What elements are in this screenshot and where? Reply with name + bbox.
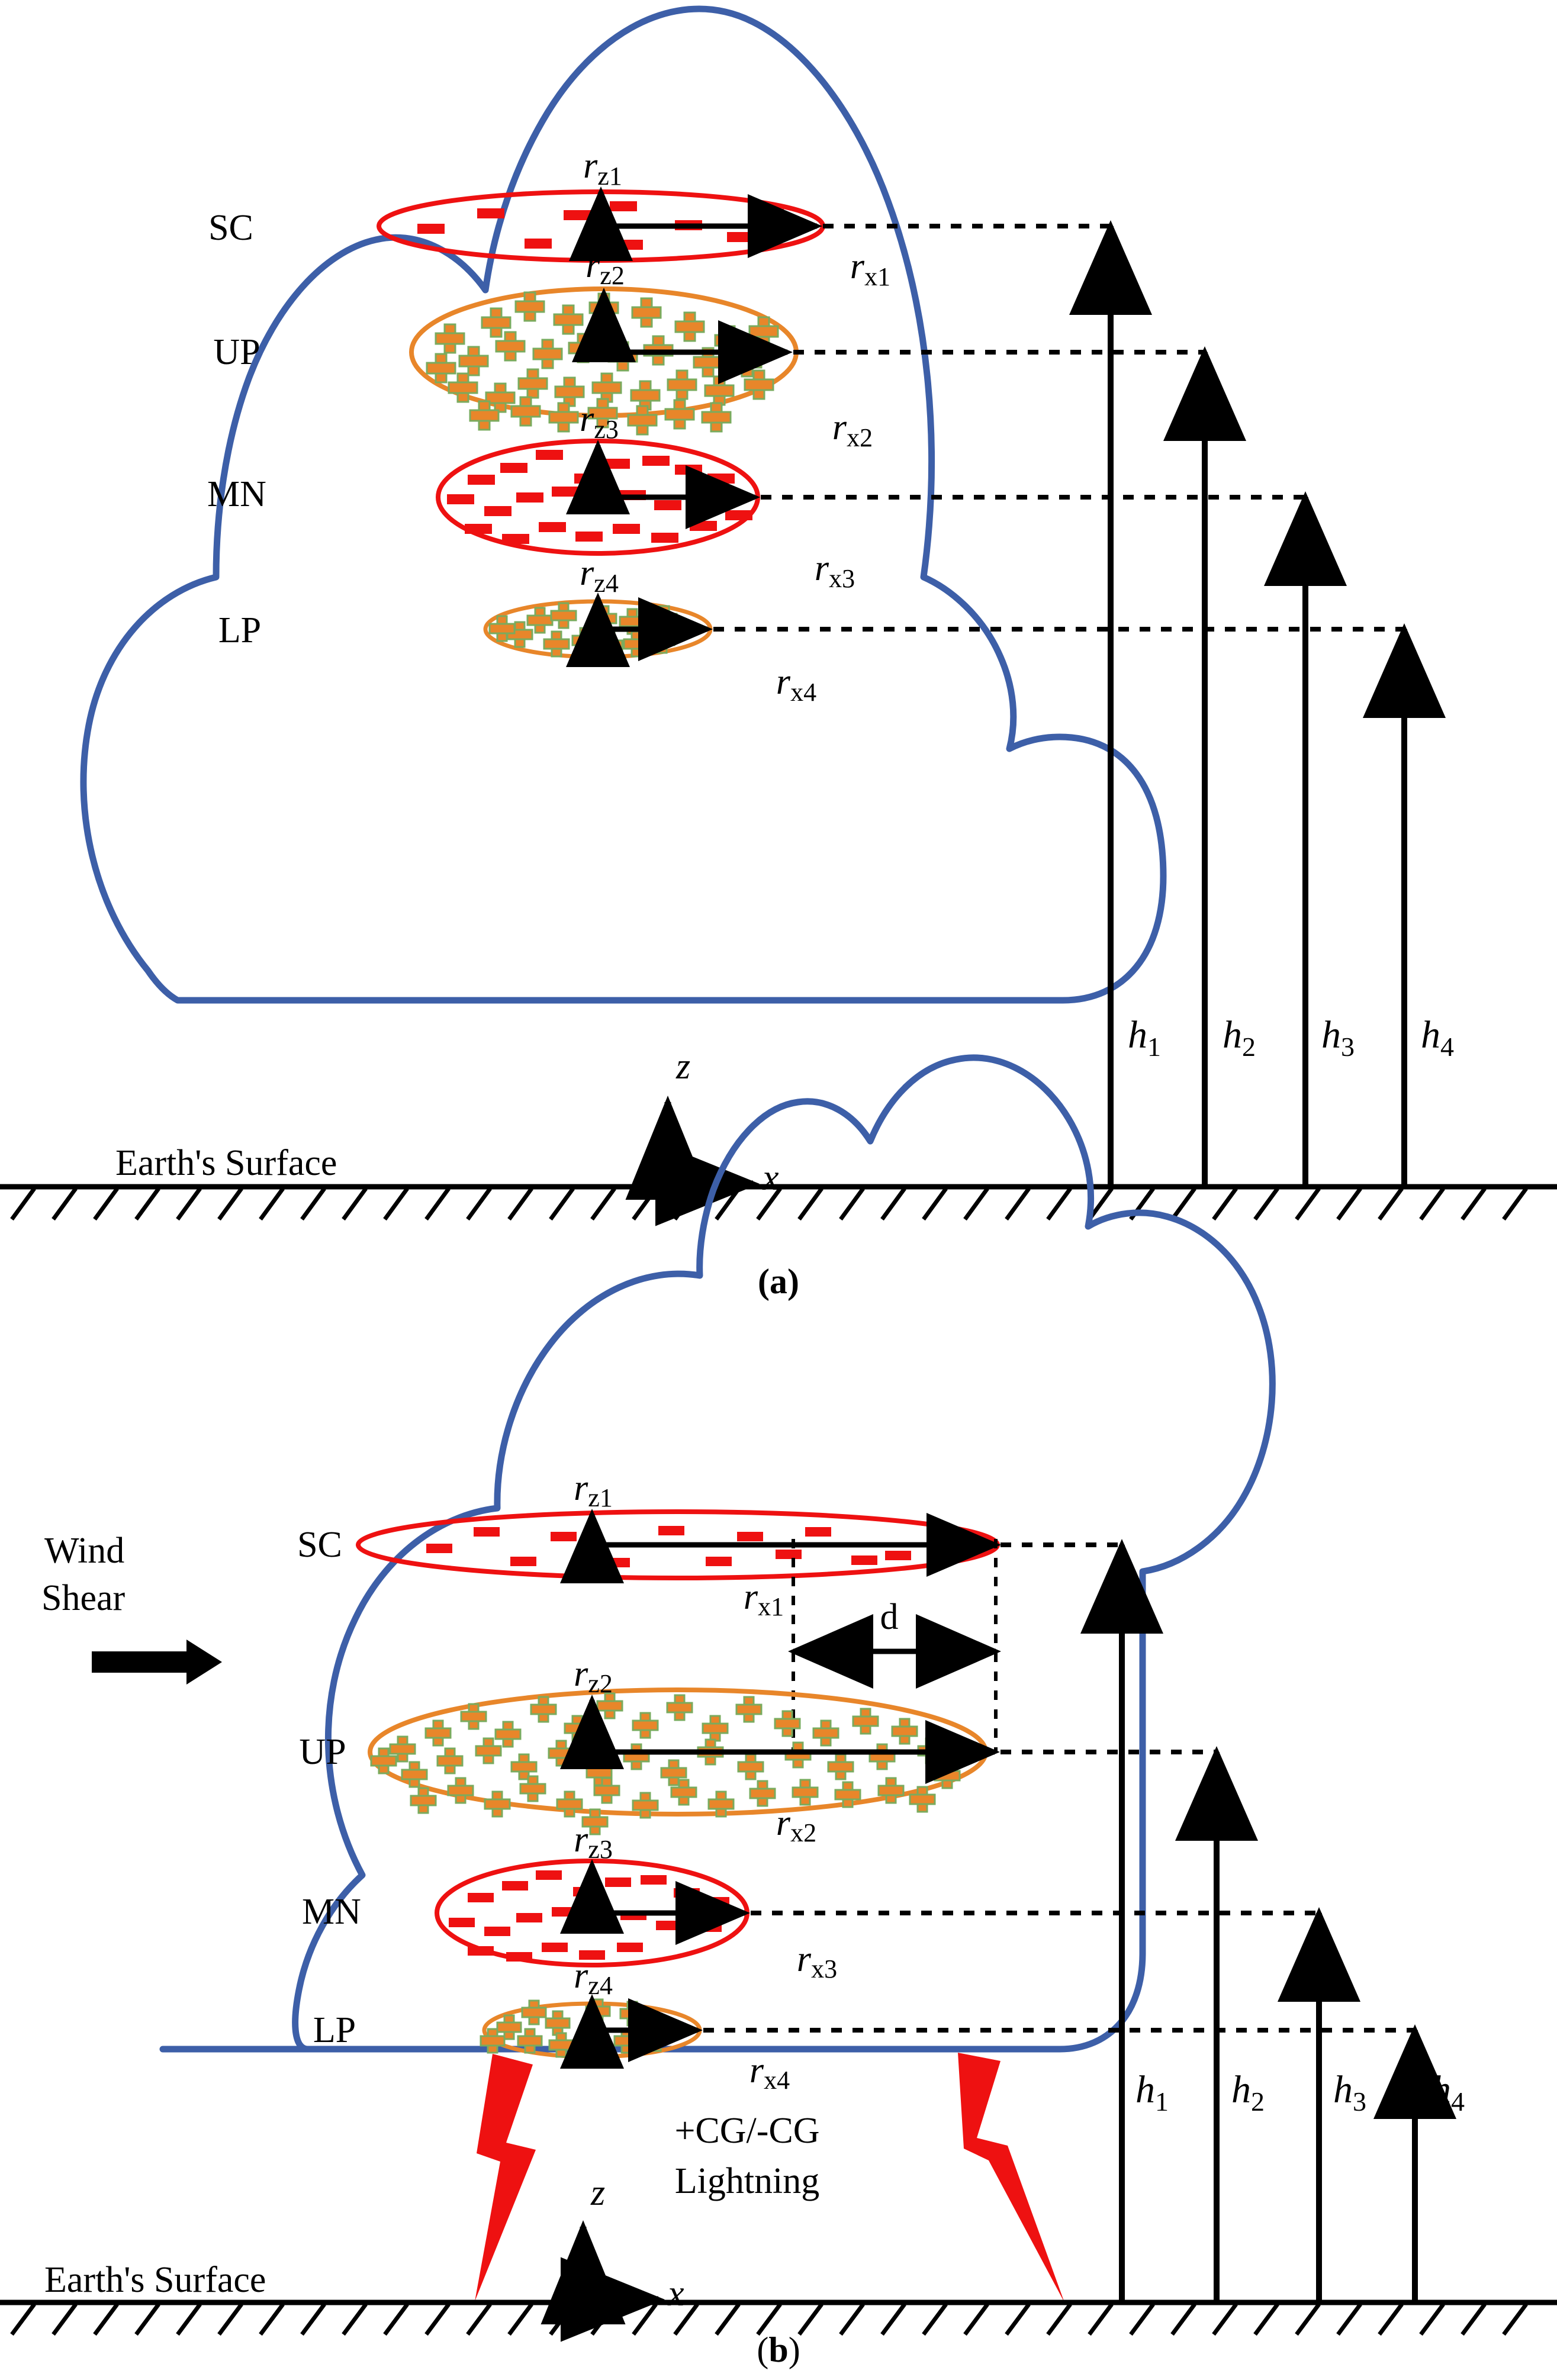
z-axis-label-a: z (675, 1046, 690, 1087)
layer-label-sc-b: SC (297, 1525, 342, 1565)
earth-surface-label-a: Earth's Surface (115, 1143, 337, 1183)
z-axis-label-b: z (590, 2173, 605, 2213)
layer-label-mn-a: MN (207, 474, 266, 514)
panel-caption-b: (b) (757, 2330, 800, 2369)
layer-label-lp-b: LP (313, 2010, 356, 2050)
layer-label-mn-b: MN (302, 1892, 361, 1932)
displacement-label-b: d (880, 1597, 899, 1637)
x-axis-label-b: x (667, 2273, 684, 2314)
wind-shear-label-line1-b: Wind (44, 1531, 124, 1571)
lightning-label-line1-b: +CG/-CG (674, 2111, 819, 2151)
layer-label-sc-a: SC (208, 208, 253, 248)
layer-label-up-b: UP (299, 1732, 346, 1772)
lightning-label-line2-b: Lightning (675, 2161, 820, 2201)
panel-caption-a: (a) (758, 1262, 799, 1301)
layer-label-up-a: UP (213, 332, 260, 372)
layer-label-lp-a: LP (218, 610, 261, 650)
figure-root: rz1 rx1 SC (0, 0, 1557, 2380)
earth-surface-label-b: Earth's Surface (44, 2260, 266, 2300)
wind-shear-label-line2-b: Shear (41, 1578, 126, 1618)
